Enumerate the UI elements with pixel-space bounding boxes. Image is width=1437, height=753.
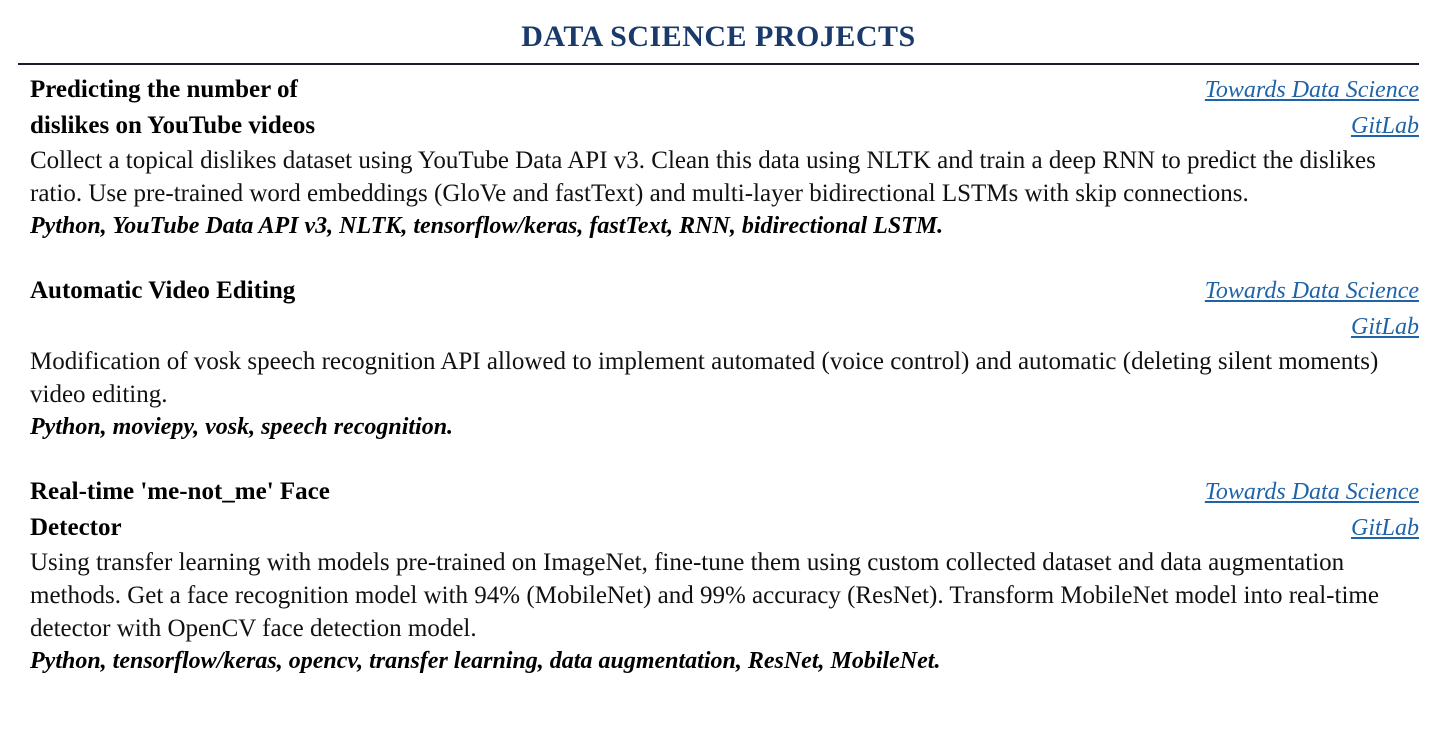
project-tech-stack: Python, YouTube Data API v3, NLTK, tenso… xyxy=(30,210,1419,243)
project-title: Automatic Video Editing xyxy=(30,273,590,345)
project-header: Towards Data Science GitLab Automatic Vi… xyxy=(30,273,1419,345)
project-title: Predicting the number of dislikes on You… xyxy=(30,72,590,144)
project-header: Towards Data Science GitLab Predicting t… xyxy=(30,72,1419,144)
project-title-line-1: Automatic Video Editing xyxy=(30,277,295,304)
project-tech-stack: Python, moviepy, vosk, speech recognitio… xyxy=(30,411,1419,444)
resume-page: DATA SCIENCE PROJECTS Towards Data Scien… xyxy=(0,0,1437,753)
project-links: Towards Data Science GitLab xyxy=(1119,72,1419,144)
link-towards-data-science[interactable]: Towards Data Science xyxy=(1119,474,1419,510)
project-links: Towards Data Science GitLab xyxy=(1119,273,1419,345)
project-title-line-2: Detector xyxy=(30,514,122,541)
link-towards-data-science[interactable]: Towards Data Science xyxy=(1119,72,1419,108)
project-description: Collect a topical dislikes dataset using… xyxy=(30,144,1419,210)
project-links: Towards Data Science GitLab xyxy=(1119,474,1419,546)
link-gitlab[interactable]: GitLab xyxy=(1119,309,1419,345)
projects-list: Towards Data Science GitLab Predicting t… xyxy=(0,72,1437,678)
project-title-line-2: dislikes on YouTube videos xyxy=(30,112,315,139)
project-title-line-1: Real-time 'me-not_me' Face xyxy=(30,478,330,505)
title-divider xyxy=(18,63,1419,65)
project-description: Using transfer learning with models pre-… xyxy=(30,546,1419,645)
project-tech-stack: Python, tensorflow/keras, opencv, transf… xyxy=(30,645,1419,678)
project-item: Towards Data Science GitLab Real-time 'm… xyxy=(30,474,1419,678)
project-header: Towards Data Science GitLab Real-time 'm… xyxy=(30,474,1419,546)
project-title-line-1: Predicting the number of xyxy=(30,76,298,103)
project-title: Real-time 'me-not_me' Face Detector xyxy=(30,474,590,546)
link-gitlab[interactable]: GitLab xyxy=(1119,108,1419,144)
link-gitlab[interactable]: GitLab xyxy=(1119,510,1419,546)
link-towards-data-science[interactable]: Towards Data Science xyxy=(1119,273,1419,309)
page-title: DATA SCIENCE PROJECTS xyxy=(0,0,1437,52)
title-spacer xyxy=(30,309,590,345)
project-item: Towards Data Science GitLab Predicting t… xyxy=(30,72,1419,243)
project-item: Towards Data Science GitLab Automatic Vi… xyxy=(30,273,1419,444)
project-description: Modification of vosk speech recognition … xyxy=(30,345,1419,411)
